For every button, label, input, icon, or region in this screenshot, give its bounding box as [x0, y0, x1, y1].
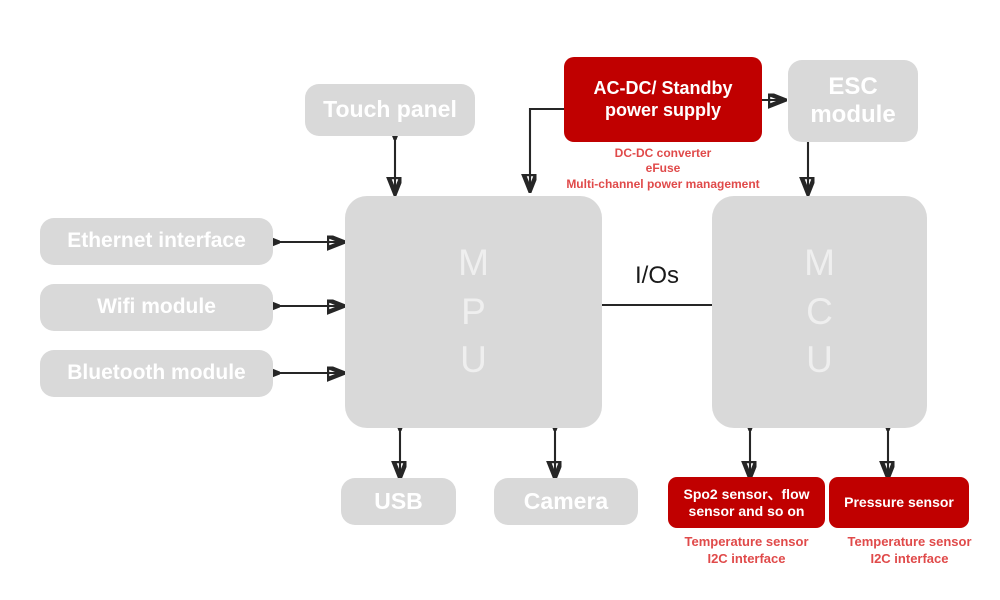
- block-ethernet-interface-label: Ethernet interface: [67, 229, 246, 254]
- block-camera-label: Camera: [524, 488, 608, 515]
- block-bluetooth-module[interactable]: Bluetooth module: [40, 350, 273, 397]
- block-mpu[interactable]: M P U: [345, 196, 602, 428]
- block-mcu-letter-1: M: [804, 239, 835, 288]
- block-power-supply[interactable]: AC-DC/ Standby power supply: [564, 57, 762, 142]
- pressure-sensor-caption: Temperature sensor I2C interface: [826, 534, 993, 567]
- block-mpu-letter-3: U: [460, 336, 487, 385]
- block-pressure-sensor[interactable]: Pressure sensor: [829, 477, 969, 528]
- spo2-sensor-caption: Temperature sensor I2C interface: [663, 534, 830, 567]
- spo2-sensor-caption-line-1: Temperature sensor: [663, 534, 830, 551]
- pressure-sensor-caption-line-2: I2C interface: [826, 551, 993, 568]
- block-mcu-letter-2: C: [806, 288, 833, 337]
- block-camera[interactable]: Camera: [494, 478, 638, 525]
- block-touch-panel[interactable]: Touch panel: [305, 84, 475, 136]
- block-pressure-sensor-label: Pressure sensor: [844, 494, 954, 511]
- power-supply-caption-line-3: Multi-channel power management: [538, 177, 788, 192]
- block-spo2-flow-sensor[interactable]: Spo2 sensor、flow sensor and so on: [668, 477, 825, 528]
- spo2-sensor-caption-line-2: I2C interface: [663, 551, 830, 568]
- block-wifi-module[interactable]: Wifi module: [40, 284, 273, 331]
- block-bluetooth-module-label: Bluetooth module: [67, 361, 245, 386]
- block-mpu-letter-2: P: [461, 288, 486, 337]
- block-power-supply-label: AC-DC/ Standby power supply: [574, 78, 752, 120]
- block-mcu-letter-3: U: [806, 336, 833, 385]
- block-spo2-flow-sensor-label: Spo2 sensor、flow sensor and so on: [675, 486, 818, 519]
- block-usb[interactable]: USB: [341, 478, 456, 525]
- power-supply-caption: DC-DC converter eFuse Multi-channel powe…: [538, 146, 788, 192]
- io-bus-label-text: I/Os: [635, 262, 679, 289]
- block-mpu-letter-1: M: [458, 239, 489, 288]
- block-wifi-module-label: Wifi module: [97, 295, 216, 320]
- diagram-canvas: Touch panel Ethernet interface Wifi modu…: [0, 0, 1000, 600]
- block-usb-label: USB: [374, 488, 423, 515]
- block-esc-module-label: ESC module: [796, 73, 910, 130]
- power-supply-caption-line-2: eFuse: [538, 161, 788, 176]
- power-supply-caption-line-1: DC-DC converter: [538, 146, 788, 161]
- block-touch-panel-label: Touch panel: [323, 96, 457, 123]
- io-bus-label: I/Os: [607, 262, 707, 290]
- pressure-sensor-caption-line-1: Temperature sensor: [826, 534, 993, 551]
- block-esc-module[interactable]: ESC module: [788, 60, 918, 142]
- block-ethernet-interface[interactable]: Ethernet interface: [40, 218, 273, 265]
- block-mcu[interactable]: M C U: [712, 196, 927, 428]
